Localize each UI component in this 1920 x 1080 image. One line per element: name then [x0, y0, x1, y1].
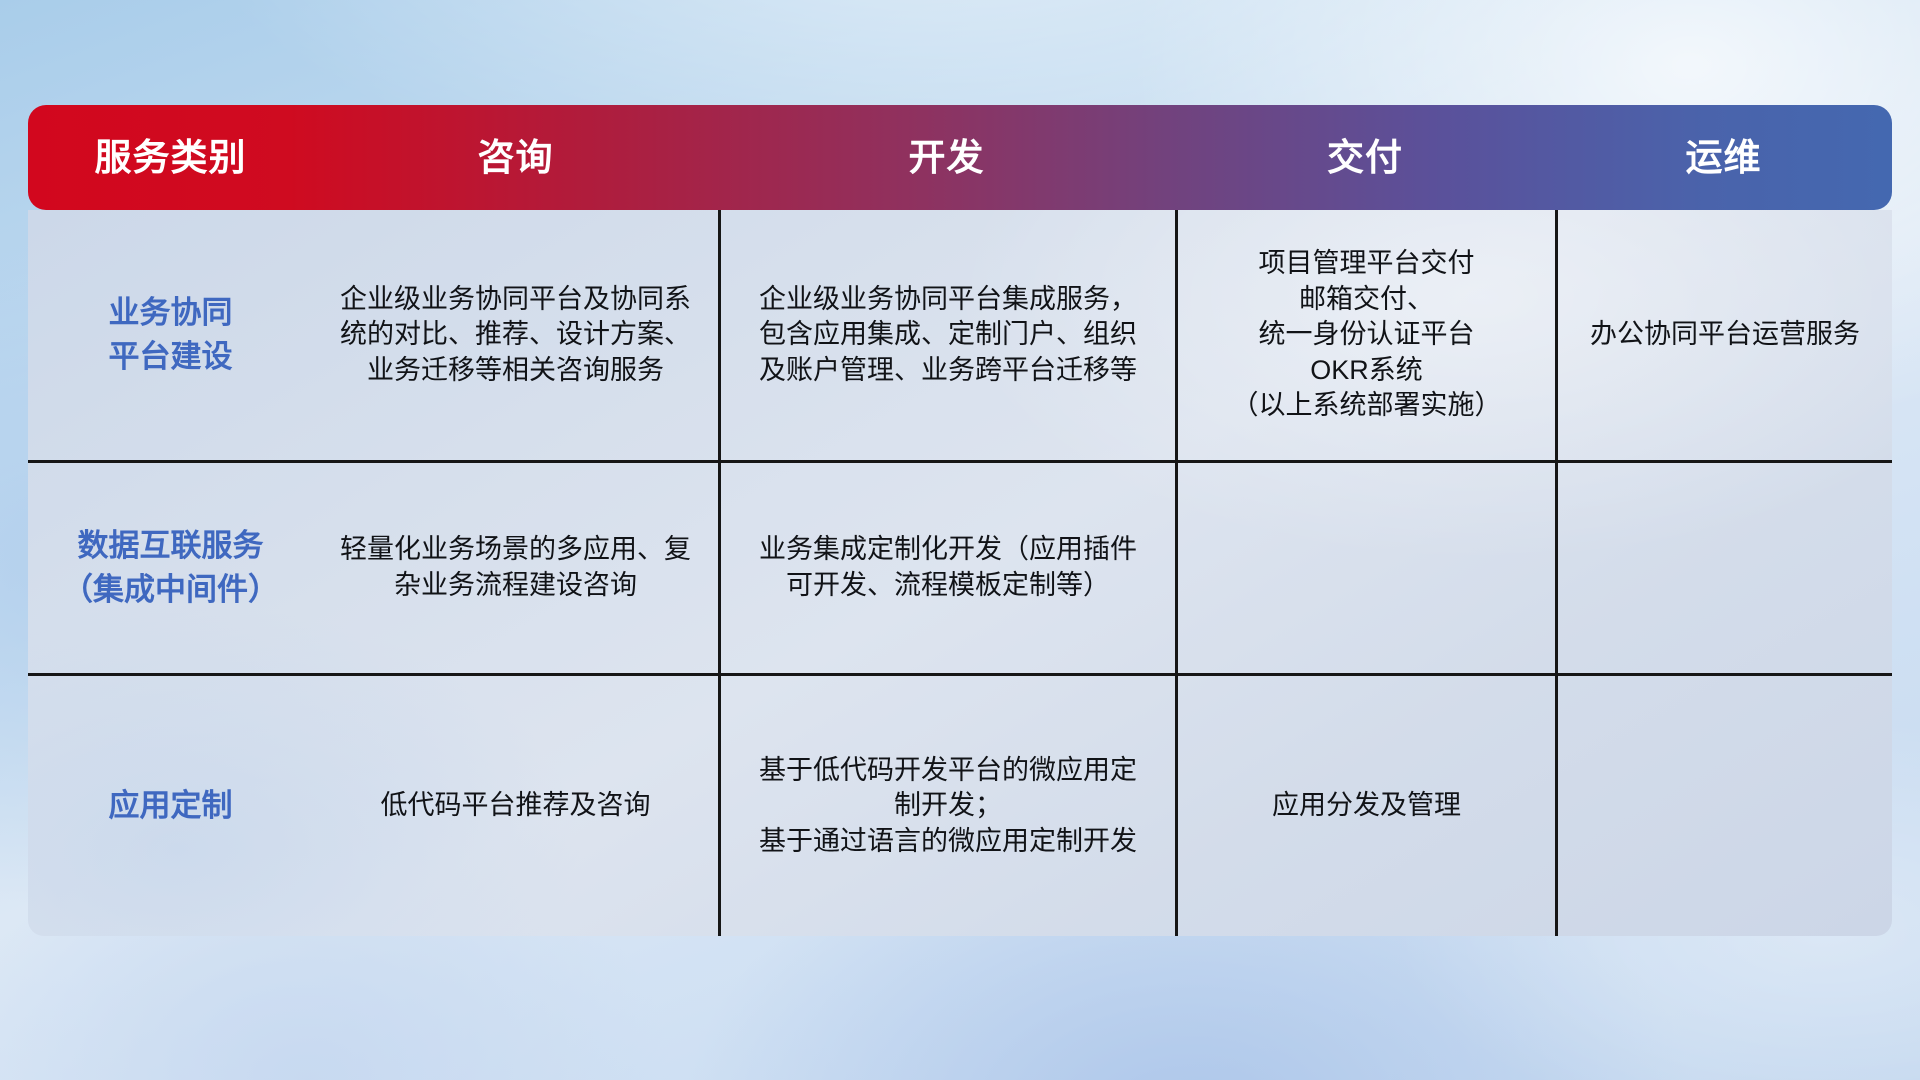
table-header-row: 服务类别 咨询 开发 交付 运维 — [28, 105, 1892, 210]
cell-development: 基于低代码开发平台的微应用定 制开发； 基于通过语言的微应用定制开发 — [718, 676, 1175, 936]
cell-operations — [1555, 463, 1892, 673]
row-category-label: 应用定制 — [28, 676, 313, 936]
row-category-label: 数据互联服务 （集成中间件） — [28, 463, 313, 673]
service-category-table: 服务类别 咨询 开发 交付 运维 业务协同 平台建设 企业级业务协同平台及协同系… — [28, 105, 1892, 936]
table-row: 数据互联服务 （集成中间件） 轻量化业务场景的多应用、复 杂业务流程建设咨询 业… — [28, 460, 1892, 673]
cell-delivery: 应用分发及管理 — [1175, 676, 1555, 936]
cell-consulting: 企业级业务协同平台及协同系 统的对比、推荐、设计方案、 业务迁移等相关咨询服务 — [313, 210, 718, 460]
column-header-delivery: 交付 — [1175, 105, 1555, 210]
column-header-category: 服务类别 — [28, 105, 313, 210]
table-row: 业务协同 平台建设 企业级业务协同平台及协同系 统的对比、推荐、设计方案、 业务… — [28, 210, 1892, 460]
cell-operations: 办公协同平台运营服务 — [1555, 210, 1892, 460]
cell-development: 业务集成定制化开发（应用插件 可开发、流程模板定制等） — [718, 463, 1175, 673]
table-row: 应用定制 低代码平台推荐及咨询 基于低代码开发平台的微应用定 制开发； 基于通过… — [28, 673, 1892, 936]
column-header-development: 开发 — [718, 105, 1175, 210]
cell-consulting: 轻量化业务场景的多应用、复 杂业务流程建设咨询 — [313, 463, 718, 673]
row-category-label: 业务协同 平台建设 — [28, 210, 313, 460]
cell-consulting: 低代码平台推荐及咨询 — [313, 676, 718, 936]
table-body: 业务协同 平台建设 企业级业务协同平台及协同系 统的对比、推荐、设计方案、 业务… — [28, 210, 1892, 936]
cell-development: 企业级业务协同平台集成服务， 包含应用集成、定制门户、组织 及账户管理、业务跨平… — [718, 210, 1175, 460]
cell-delivery — [1175, 463, 1555, 673]
column-header-operations: 运维 — [1555, 105, 1892, 210]
cell-operations — [1555, 676, 1892, 936]
cell-delivery: 项目管理平台交付 邮箱交付、 统一身份认证平台 OKR系统 （以上系统部署实施） — [1175, 210, 1555, 460]
column-header-consulting: 咨询 — [313, 105, 718, 210]
